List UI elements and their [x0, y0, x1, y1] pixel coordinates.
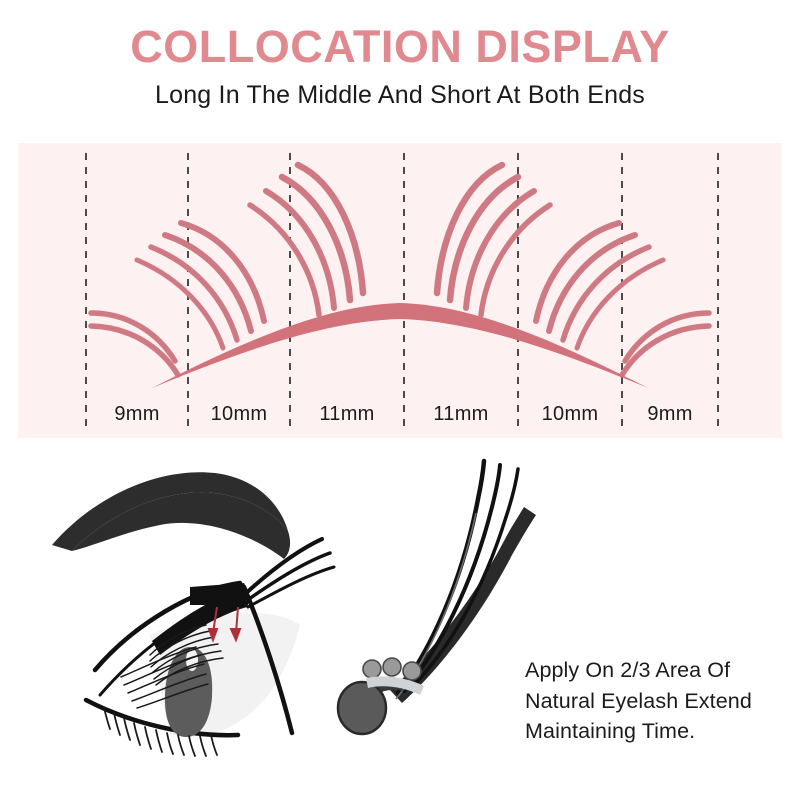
lash-map-diagram: .dash { stroke:#4a4a4a; stroke-width:2; …: [18, 143, 782, 438]
product-infographic: COLLOCATION DISPLAY Long In The Middle A…: [0, 0, 800, 800]
segment-dividers: [86, 153, 718, 428]
application-illustration: [0, 455, 800, 800]
apply-note-line-2: Natural Eyelash Extend: [525, 686, 793, 717]
segment-label-1: 9mm: [86, 403, 188, 426]
apply-note-line-1: Apply On 2/3 Area Of: [525, 655, 793, 686]
illustration-svg: [0, 455, 800, 800]
strand-cross-section-1: [363, 660, 381, 678]
strand-cross-section-3: [403, 662, 421, 680]
segment-label-3: 11mm: [290, 403, 404, 426]
lash-cluster-11mm-right: [437, 165, 550, 315]
lash-cluster-10mm-right: [536, 223, 663, 348]
apply-note: Apply On 2/3 Area Of Natural Eyelash Ext…: [525, 655, 793, 747]
lash-cluster-9mm-right: [622, 313, 709, 375]
apply-note-line-3: Maintaining Time.: [525, 716, 793, 747]
segment-label-2: 10mm: [188, 403, 290, 426]
extension-band: [190, 583, 247, 605]
page-subtitle: Long In The Middle And Short At Both End…: [0, 72, 800, 110]
lash-map-panel: .dash { stroke:#4a4a4a; stroke-width:2; …: [18, 143, 782, 438]
lash-cluster-10mm-left: [137, 223, 264, 348]
segment-label-5: 10mm: [518, 403, 622, 426]
fan-base-cap: [338, 682, 386, 734]
strand-cross-section-2: [383, 658, 401, 676]
lash-fan-applicator: [338, 461, 536, 734]
segment-label-6: 9mm: [622, 403, 718, 426]
lash-cluster-11mm-left: [250, 165, 363, 315]
lash-cluster-9mm-left: [91, 313, 178, 375]
page-title: COLLOCATION DISPLAY: [0, 0, 800, 72]
segment-label-4: 11mm: [404, 403, 518, 426]
header: COLLOCATION DISPLAY Long In The Middle A…: [0, 0, 800, 110]
